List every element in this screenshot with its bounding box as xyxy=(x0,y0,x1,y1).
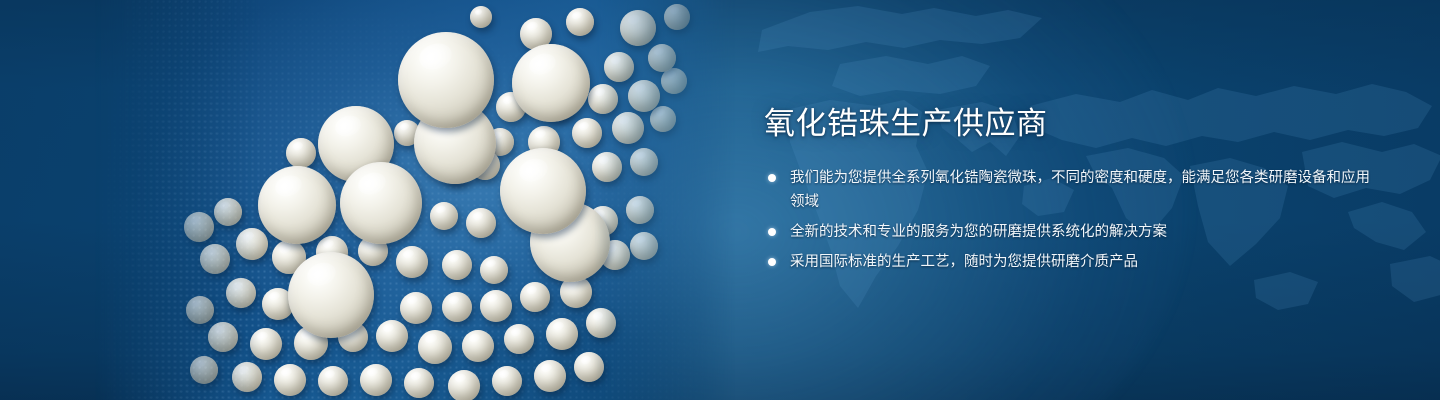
ceramic-bead xyxy=(250,328,282,360)
page-title: 氧化锆珠生产供应商 xyxy=(764,104,1384,144)
list-item: 全新的技术和专业的服务为您的研磨提供系统化的解决方案 xyxy=(764,220,1384,244)
ceramic-bead xyxy=(470,6,492,28)
ceramic-bead xyxy=(404,368,434,398)
ceramic-bead xyxy=(520,282,550,312)
ceramic-bead xyxy=(650,106,676,132)
ceramic-bead xyxy=(648,44,676,72)
ceramic-bead xyxy=(512,44,590,122)
ceramic-bead xyxy=(360,364,392,396)
ceramic-bead xyxy=(398,32,494,128)
ceramic-bead xyxy=(504,324,534,354)
ceramic-bead xyxy=(620,10,656,46)
ceramic-bead xyxy=(492,366,522,396)
ceramic-bead xyxy=(396,246,428,278)
ceramic-bead xyxy=(462,330,494,362)
ceramic-bead xyxy=(572,118,602,148)
ceramic-bead xyxy=(586,308,616,338)
ceramic-bead xyxy=(534,360,566,392)
ceramic-bead xyxy=(592,152,622,182)
list-item: 我们能为您提供全系列氧化锆陶瓷微珠，不同的密度和硬度，能满足您各类研磨设备和应用… xyxy=(764,166,1384,214)
ceramic-bead xyxy=(480,290,512,322)
ceramic-bead xyxy=(274,364,306,396)
ceramic-bead xyxy=(612,112,644,144)
ceramic-bead xyxy=(430,202,458,230)
banner-copy: 氧化锆珠生产供应商 我们能为您提供全系列氧化锆陶瓷微珠，不同的密度和硬度，能满足… xyxy=(764,104,1384,274)
ceramic-bead xyxy=(400,292,432,324)
ceramic-bead xyxy=(604,52,634,82)
hero-banner: 氧化锆珠生产供应商 我们能为您提供全系列氧化锆陶瓷微珠，不同的密度和硬度，能满足… xyxy=(0,0,1440,400)
ceramic-bead xyxy=(448,370,480,400)
bullet-dot-icon xyxy=(768,228,776,236)
ceramic-bead xyxy=(664,4,690,30)
ceramic-bead xyxy=(318,366,348,396)
ceramic-bead xyxy=(466,208,496,238)
ceramic-bead xyxy=(190,356,218,384)
bullet-dot-icon xyxy=(768,174,776,182)
ceramic-bead xyxy=(566,8,594,36)
ceramic-bead xyxy=(480,256,508,284)
ceramic-bead xyxy=(628,80,660,112)
ceramic-bead xyxy=(340,162,422,244)
zirconia-beads-photo xyxy=(95,0,735,400)
ceramic-bead xyxy=(442,250,472,280)
ceramic-bead xyxy=(661,68,687,94)
list-item: 采用国际标准的生产工艺，随时为您提供研磨介质产品 xyxy=(764,250,1384,274)
list-item-text: 全新的技术和专业的服务为您的研磨提供系统化的解决方案 xyxy=(790,224,1167,240)
ceramic-bead xyxy=(232,362,262,392)
bullet-dot-icon xyxy=(768,258,776,266)
ceramic-bead xyxy=(546,318,578,350)
feature-list: 我们能为您提供全系列氧化锆陶瓷微珠，不同的密度和硬度，能满足您各类研磨设备和应用… xyxy=(764,166,1384,274)
ceramic-bead xyxy=(214,198,242,226)
ceramic-bead xyxy=(442,292,472,322)
ceramic-bead xyxy=(500,148,586,234)
ceramic-bead xyxy=(208,322,238,352)
ceramic-bead xyxy=(200,244,230,274)
ceramic-bead xyxy=(574,352,604,382)
list-item-text: 采用国际标准的生产工艺，随时为您提供研磨介质产品 xyxy=(790,254,1138,270)
ceramic-bead xyxy=(286,138,316,168)
ceramic-bead xyxy=(588,84,618,114)
ceramic-bead xyxy=(376,320,408,352)
ceramic-bead xyxy=(258,166,336,244)
ceramic-bead xyxy=(186,296,214,324)
ceramic-bead xyxy=(184,212,214,242)
list-item-text: 我们能为您提供全系列氧化锆陶瓷微珠，不同的密度和硬度，能满足您各类研磨设备和应用… xyxy=(790,170,1370,210)
ceramic-bead xyxy=(630,148,658,176)
ceramic-bead xyxy=(288,252,374,338)
ceramic-bead xyxy=(626,196,654,224)
ceramic-bead xyxy=(418,330,452,364)
ceramic-bead xyxy=(630,232,658,260)
ceramic-bead xyxy=(226,278,256,308)
ceramic-bead xyxy=(236,228,268,260)
